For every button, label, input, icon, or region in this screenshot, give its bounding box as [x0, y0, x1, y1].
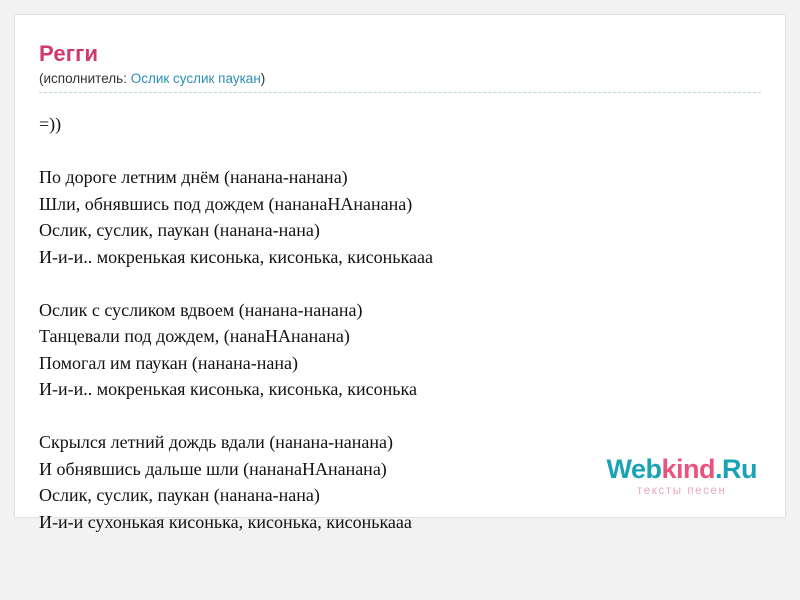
watermark-web-part: Web	[606, 454, 661, 484]
artist-suffix-label: )	[261, 71, 266, 86]
watermark-ru-part: .Ru	[715, 454, 757, 484]
watermark-subtitle: тексты песен	[606, 485, 757, 497]
page-title: Регги	[39, 41, 761, 67]
lyrics-page-card: Регги (исполнитель: Ослик суслик паукан)…	[14, 14, 786, 518]
watermark-kind-part: kind	[661, 454, 715, 484]
artist-link[interactable]: Ослик суслик паукан	[131, 71, 261, 86]
artist-line: (исполнитель: Ослик суслик паукан)	[39, 71, 761, 93]
artist-prefix-label: (исполнитель:	[39, 71, 131, 86]
watermark-wordmark: Webkind.Ru	[606, 456, 757, 483]
site-watermark: Webkind.Ru тексты песен	[606, 456, 757, 497]
